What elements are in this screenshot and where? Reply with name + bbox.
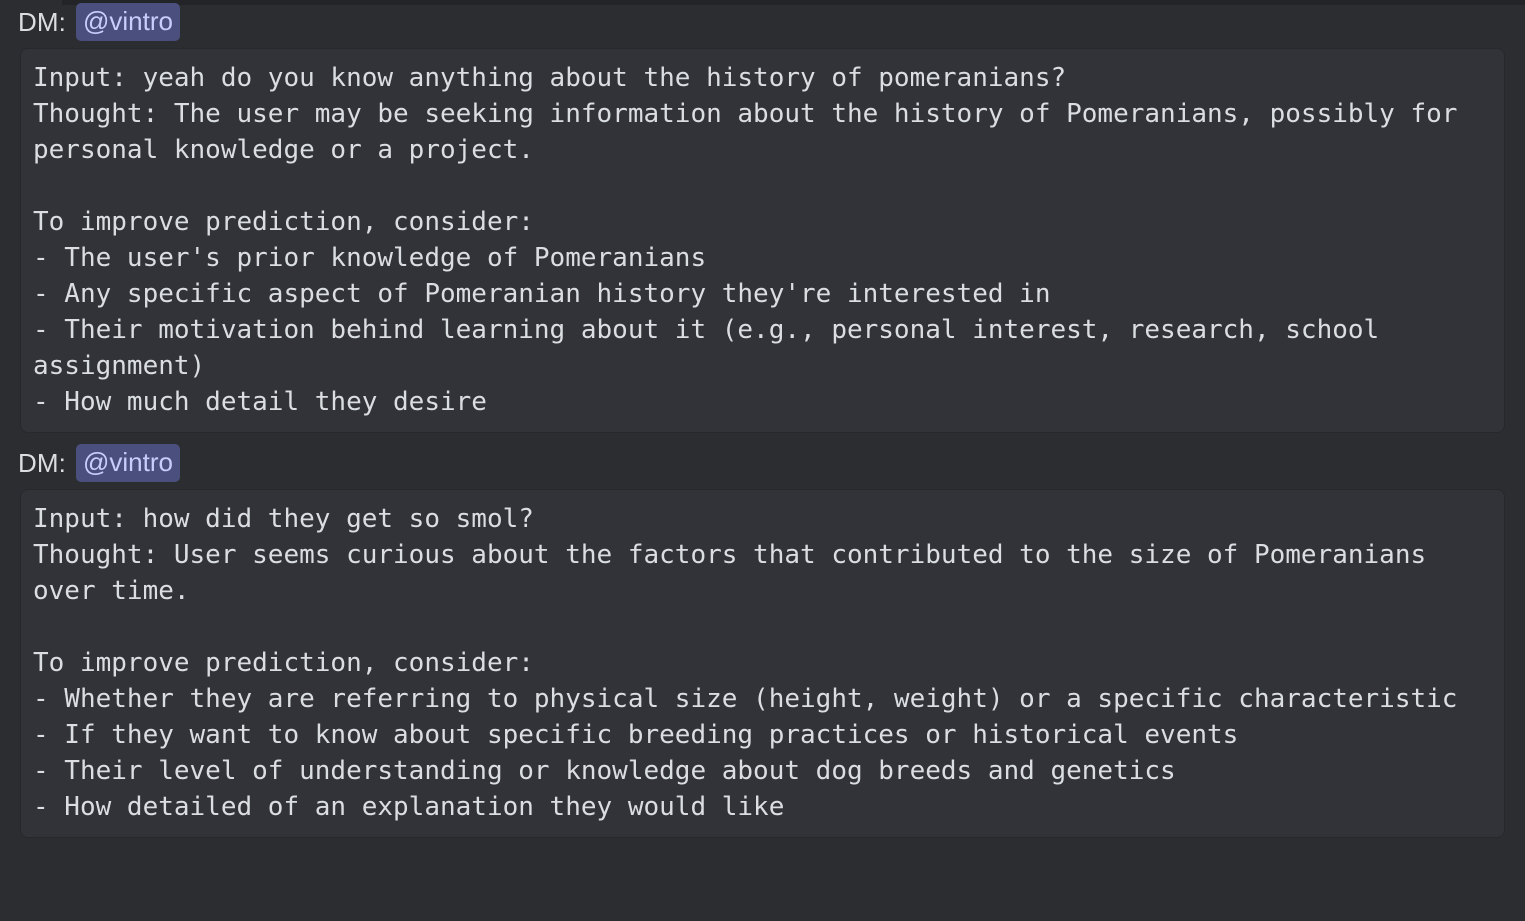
message-header: DM: @vintro (0, 0, 1525, 44)
code-block-content: Input: yeah do you know anything about t… (33, 60, 1492, 420)
chat-transcript-page: DM: @vintro Input: yeah do you know anyt… (0, 0, 1525, 921)
code-block: Input: yeah do you know anything about t… (20, 48, 1505, 433)
message-spacer (0, 433, 1525, 441)
dm-label: DM: (18, 7, 66, 37)
message-header: DM: @vintro (0, 441, 1525, 485)
code-block-content: Input: how did they get so smol? Thought… (33, 501, 1492, 825)
message-item: DM: @vintro Input: yeah do you know anyt… (0, 0, 1525, 433)
mention-vintro[interactable]: @vintro (76, 444, 180, 482)
code-block: Input: how did they get so smol? Thought… (20, 489, 1505, 838)
message-item: DM: @vintro Input: how did they get so s… (0, 441, 1525, 838)
message-list: DM: @vintro Input: yeah do you know anyt… (0, 0, 1525, 838)
dm-label: DM: (18, 448, 66, 478)
mention-vintro[interactable]: @vintro (76, 3, 180, 41)
